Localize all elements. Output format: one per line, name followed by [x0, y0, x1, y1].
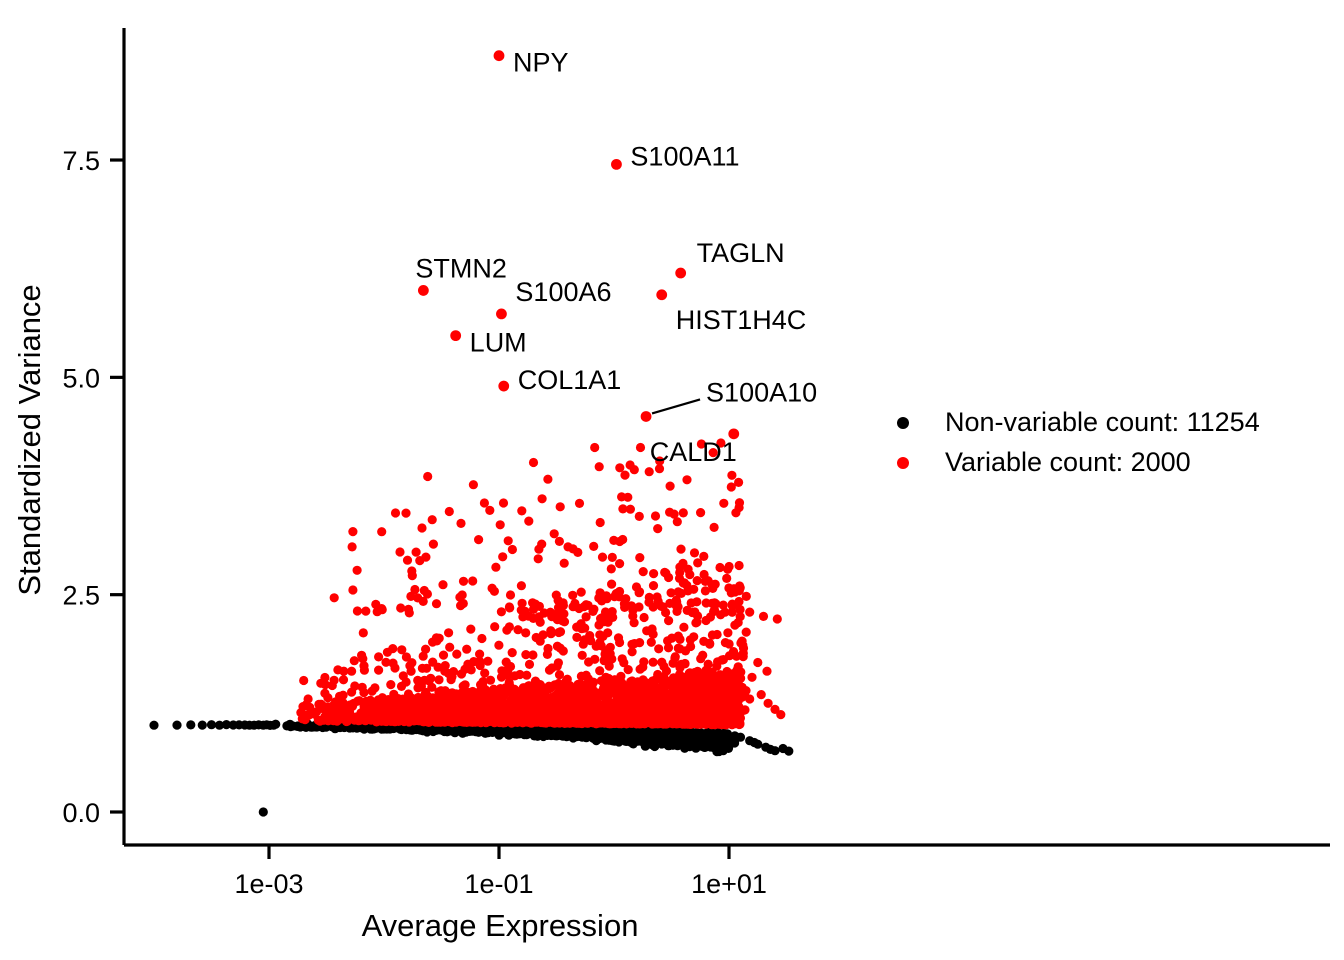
data-point-nonvariable: [665, 732, 674, 741]
data-point-nonvariable: [688, 732, 697, 741]
data-point-nonvariable: [646, 730, 655, 739]
data-point-nonvariable: [696, 734, 705, 743]
data-point-nonvariable: [750, 738, 759, 747]
data-point-nonvariable: [207, 720, 216, 729]
data-points-layer: [149, 438, 793, 816]
scatter-plot-canvas: 0.02.55.07.5 1e-031e-011e+01 NPYS100A11T…: [0, 0, 1344, 960]
variable-feature-plot: 0.02.55.07.5 1e-031e-011e+01 NPYS100A11T…: [0, 0, 1344, 960]
data-point-nonvariable: [766, 745, 775, 754]
data-point-nonvariable: [622, 727, 631, 736]
data-point-nonvariable: [680, 733, 689, 742]
data-point-nonvariable: [608, 727, 617, 736]
data-point-nonvariable: [710, 733, 719, 742]
data-point-nonvariable: [784, 747, 793, 756]
data-point-nonvariable: [172, 721, 181, 730]
data-point-nonvariable: [271, 720, 280, 729]
data-point-nonvariable: [634, 728, 643, 737]
data-point-nonvariable: [259, 807, 268, 816]
data-point-nonvariable: [288, 721, 297, 730]
data-point-nonvariable: [730, 731, 739, 740]
data-point-nonvariable: [186, 720, 195, 729]
data-point-nonvariable: [198, 721, 207, 730]
data-point-nonvariable: [149, 721, 158, 730]
